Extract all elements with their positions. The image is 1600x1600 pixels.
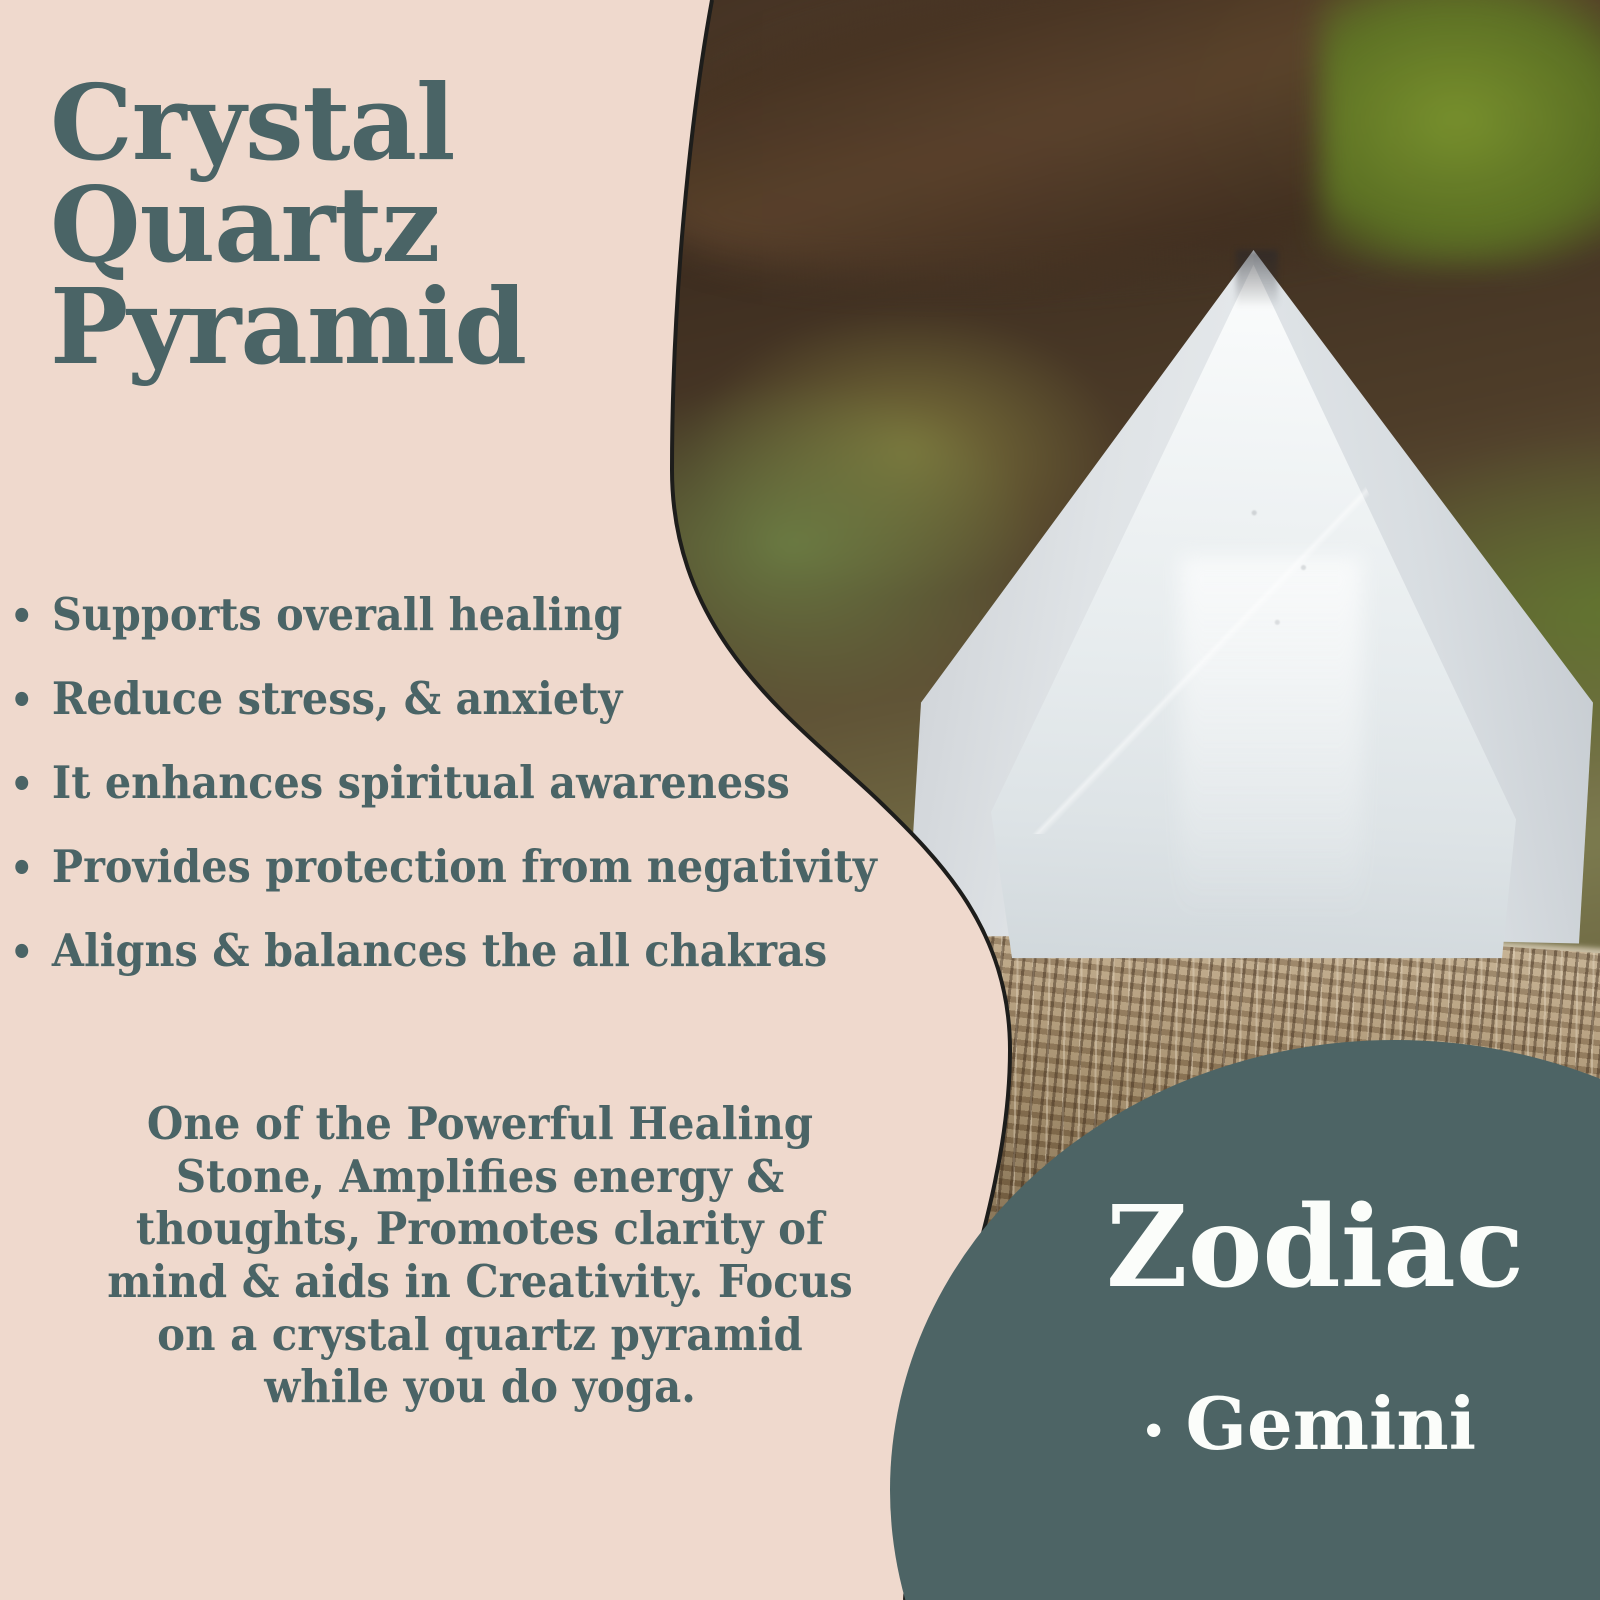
zodiac-badge: Zodiac • Gemini [890,1040,1600,1600]
benefit-label: Supports overall healing [52,592,622,637]
pyramid-inclusions [1208,469,1362,688]
benefits-list: • Supports overall healing • Reduce stre… [10,592,970,1012]
crystal-quartz-pyramid-image [900,250,1600,980]
infographic-canvas: Crystal Quartz Pyramid • Supports overal… [0,0,1600,1600]
benefit-label: It enhances spiritual awareness [52,760,790,805]
benefit-label: Provides protection from negativity [52,844,877,889]
title-line-2: Quartz [50,174,670,276]
bullet-icon: • [10,849,34,889]
list-item: • Aligns & balances the all chakras [10,928,893,973]
product-description: One of the Powerful Healing Stone, Ampli… [89,1098,870,1414]
bullet-icon: • [10,597,34,637]
background-foliage-blur [1320,0,1600,270]
benefit-label: Reduce stress, & anxiety [52,676,622,721]
bullet-icon: • [1144,1403,1164,1459]
pyramid-tip-shadow [1236,250,1278,308]
zodiac-sign-label: Gemini [1186,1388,1477,1460]
list-item: • Provides protection from negativity [10,844,893,889]
zodiac-sign-list: • Gemini [890,1388,1600,1460]
title-line-3: Pyramid [50,276,670,378]
title-line-1: Crystal [50,72,670,174]
benefit-label: Aligns & balances the all chakras [52,928,827,973]
bullet-icon: • [10,933,34,973]
zodiac-heading: Zodiac [890,1192,1600,1304]
list-item: • Supports overall healing [10,592,893,637]
page-title: Crystal Quartz Pyramid [50,72,670,378]
list-item: • It enhances spiritual awareness [10,760,893,805]
list-item: • Reduce stress, & anxiety [10,676,893,721]
bullet-icon: • [10,765,34,805]
bullet-icon: • [10,681,34,721]
